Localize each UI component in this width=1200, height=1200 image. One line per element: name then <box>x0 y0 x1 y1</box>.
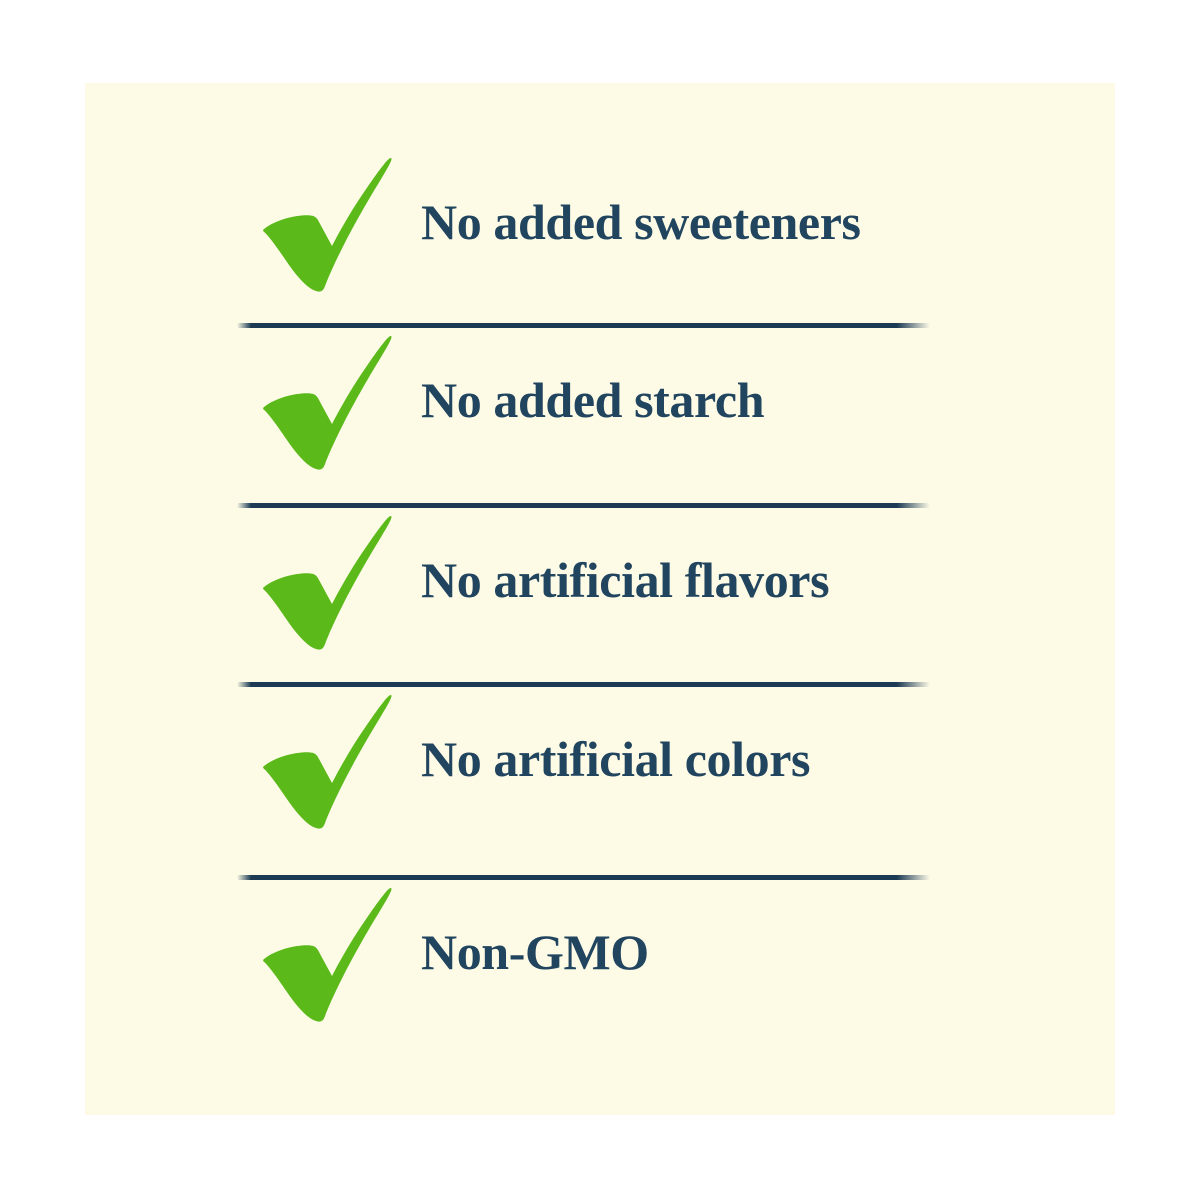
list-item-label: Non-GMO <box>421 926 937 979</box>
list-item: No artificial colors <box>237 682 937 832</box>
list-divider <box>237 503 930 508</box>
list-item: No added starch <box>237 323 937 473</box>
list-item-label: No artificial colors <box>421 733 937 786</box>
check-icon <box>255 682 395 832</box>
claims-graphic: No added sweeteners No added starch No a… <box>0 0 1200 1200</box>
list-divider <box>237 875 930 880</box>
list-divider <box>237 323 930 328</box>
list-item-label: No added sweeteners <box>421 196 937 249</box>
list-item-label: No artificial flavors <box>421 554 937 607</box>
check-icon <box>255 503 395 653</box>
list-divider <box>237 682 930 687</box>
check-icon <box>255 145 395 295</box>
check-icon <box>255 323 395 473</box>
claims-list: No added sweeteners No added starch No a… <box>85 83 1115 1115</box>
list-item: Non-GMO <box>237 875 937 1025</box>
list-item: No artificial flavors <box>237 503 937 653</box>
check-icon <box>255 875 395 1025</box>
claims-panel: No added sweeteners No added starch No a… <box>85 83 1115 1115</box>
list-item-label: No added starch <box>421 374 937 427</box>
list-item: No added sweeteners <box>237 145 937 295</box>
